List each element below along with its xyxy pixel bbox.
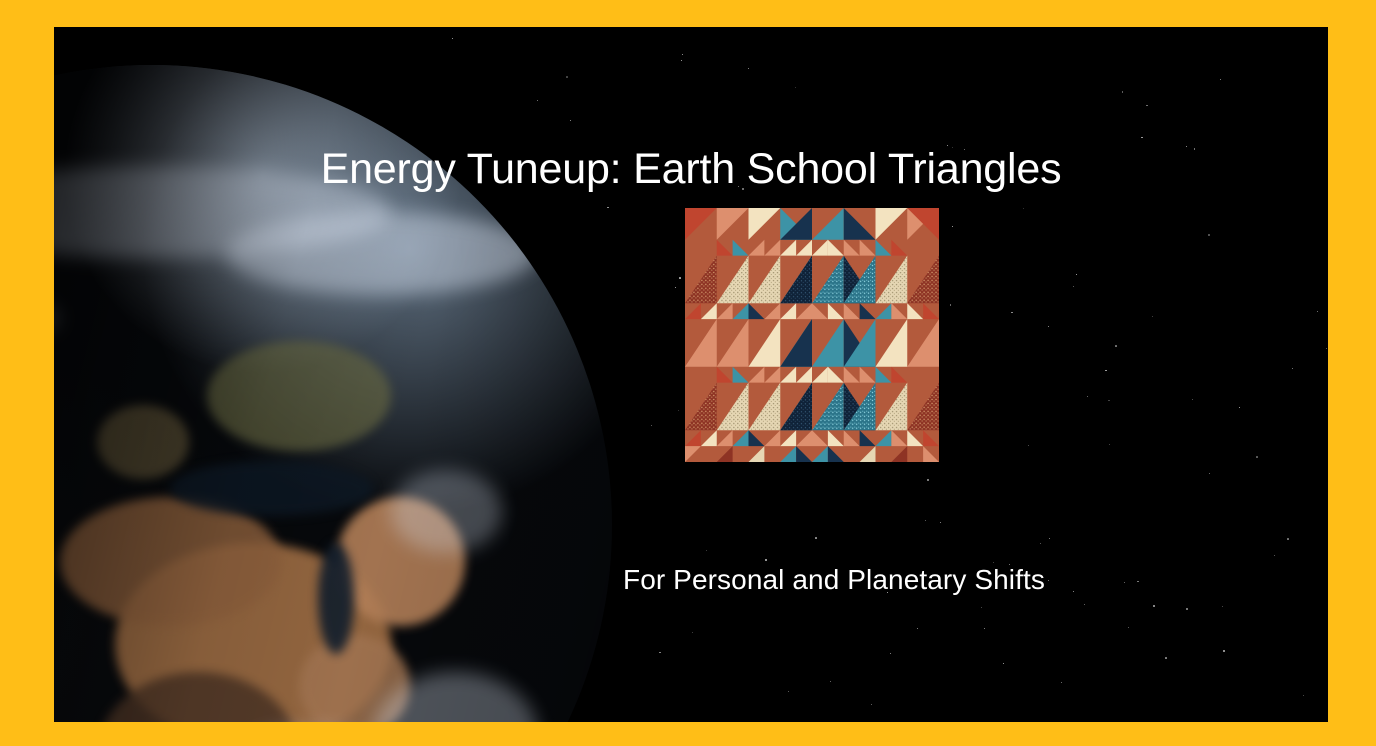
star — [1115, 345, 1117, 347]
triangle-quilt-image — [685, 208, 939, 462]
star — [678, 410, 679, 411]
star — [682, 54, 683, 55]
star — [1084, 604, 1085, 605]
star — [1287, 538, 1289, 540]
star — [1023, 208, 1024, 209]
star — [1326, 348, 1327, 349]
slide-title: Energy Tuneup: Earth School Triangles — [54, 145, 1328, 194]
star — [1303, 695, 1304, 696]
star — [651, 425, 652, 426]
star — [748, 68, 749, 69]
star — [1076, 274, 1077, 275]
star — [679, 277, 681, 279]
star — [681, 60, 682, 61]
star — [1124, 582, 1125, 583]
star — [692, 632, 693, 633]
star — [537, 100, 539, 102]
star — [1256, 456, 1258, 458]
star — [607, 207, 609, 209]
star — [706, 550, 707, 551]
star — [1317, 311, 1318, 312]
star — [890, 653, 891, 654]
star — [1137, 581, 1139, 583]
star — [1239, 407, 1240, 408]
star — [1274, 555, 1275, 556]
triangle-quilt-svg — [685, 208, 939, 462]
star — [1292, 368, 1293, 369]
star — [1108, 400, 1110, 402]
star — [1061, 682, 1062, 683]
star — [1109, 444, 1110, 445]
star — [1128, 627, 1129, 628]
star — [1028, 445, 1029, 446]
star — [1186, 608, 1188, 610]
star — [1209, 473, 1210, 474]
star — [1122, 91, 1124, 93]
star — [452, 38, 453, 39]
star — [952, 226, 953, 227]
star — [675, 287, 676, 288]
star — [1011, 312, 1013, 314]
star — [830, 681, 831, 682]
star — [940, 522, 941, 523]
star — [1049, 538, 1050, 539]
star — [1192, 399, 1193, 400]
star — [950, 304, 952, 306]
star — [981, 607, 982, 608]
star — [1048, 326, 1049, 327]
star — [1152, 316, 1153, 317]
star — [815, 537, 817, 539]
slide-frame: Energy Tuneup: Earth School Triangles — [0, 0, 1376, 746]
star — [1003, 663, 1004, 664]
star — [927, 479, 929, 481]
star — [1222, 606, 1223, 607]
star — [765, 559, 767, 561]
star — [788, 691, 789, 692]
star — [984, 628, 985, 629]
star — [871, 704, 872, 705]
star — [1141, 137, 1143, 139]
star — [659, 652, 661, 654]
star — [1048, 580, 1049, 581]
slide-canvas: Energy Tuneup: Earth School Triangles — [54, 27, 1328, 722]
star — [925, 520, 926, 521]
star — [1040, 543, 1042, 545]
star — [1073, 286, 1074, 287]
star — [917, 628, 918, 629]
star — [1165, 657, 1167, 659]
star — [566, 76, 568, 78]
star — [1153, 605, 1155, 607]
star — [1087, 396, 1088, 397]
star — [1146, 105, 1148, 107]
star — [1223, 650, 1225, 652]
star — [1105, 370, 1107, 372]
star — [1073, 591, 1074, 592]
star — [795, 87, 796, 88]
star — [1208, 234, 1210, 236]
star — [570, 120, 571, 121]
star — [1220, 79, 1221, 80]
slide-subtitle: For Personal and Planetary Shifts — [623, 564, 1045, 596]
